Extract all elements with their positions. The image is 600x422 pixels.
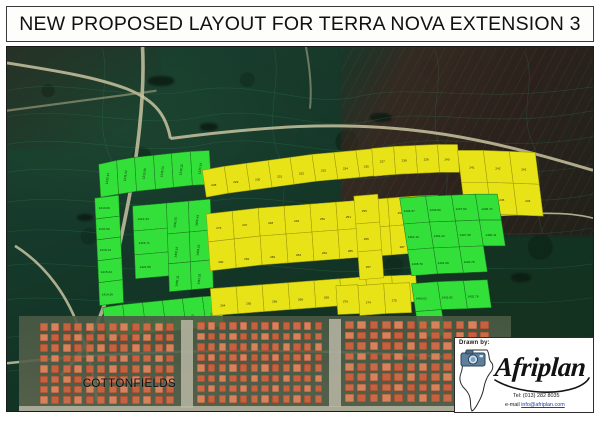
svg-text:1407.39: 1407.39 bbox=[459, 233, 470, 237]
svg-text:273: 273 bbox=[216, 226, 221, 230]
house-roof bbox=[261, 395, 268, 403]
house-roof bbox=[109, 344, 117, 352]
house-roof bbox=[166, 365, 174, 373]
house-roof bbox=[251, 375, 258, 383]
svg-text:268: 268 bbox=[298, 298, 303, 302]
svg-text:230: 230 bbox=[255, 177, 260, 181]
green-block-left-inner-right: 1411.05 1406.41 1402.16 1409.22 1405.31 … bbox=[166, 199, 213, 291]
house-roof bbox=[74, 396, 82, 404]
house-roof bbox=[74, 334, 82, 342]
house-roof bbox=[443, 332, 452, 340]
svg-text:1206.37: 1206.37 bbox=[404, 209, 415, 213]
svg-text:284: 284 bbox=[322, 251, 327, 255]
house-roof bbox=[315, 385, 322, 393]
house-roof bbox=[240, 333, 247, 341]
house-roof bbox=[382, 373, 391, 381]
house-roof bbox=[251, 395, 258, 403]
house-roof bbox=[382, 332, 391, 340]
house-roof bbox=[370, 394, 379, 402]
svg-text:1415.04: 1415.04 bbox=[101, 270, 112, 274]
house-roof bbox=[407, 321, 416, 329]
house-roof bbox=[74, 376, 82, 384]
house-roof bbox=[407, 373, 416, 381]
house-roof bbox=[304, 375, 311, 383]
house-roof bbox=[208, 385, 215, 393]
house-roof bbox=[431, 353, 440, 361]
house-roof bbox=[219, 385, 226, 393]
house-roof bbox=[155, 355, 163, 363]
house-roof bbox=[419, 384, 428, 392]
house-roof bbox=[132, 396, 140, 404]
house-roof bbox=[74, 355, 82, 363]
township-street bbox=[19, 406, 511, 411]
house-roof bbox=[315, 333, 322, 341]
house-roof bbox=[132, 344, 140, 352]
house-roof bbox=[97, 334, 105, 342]
house-roof bbox=[293, 343, 300, 351]
plan-title-bar: NEW PROPOSED LAYOUT FOR TERRA NOVA EXTEN… bbox=[6, 6, 594, 42]
house-roof bbox=[229, 322, 236, 330]
house-roof bbox=[304, 343, 311, 351]
house-roof bbox=[261, 364, 268, 372]
house-roof bbox=[407, 353, 416, 361]
house-roof bbox=[219, 322, 226, 330]
drawn-by-logo-panel: Drawn by: Afriplan Tel: (013) 282 8035 e… bbox=[454, 337, 594, 413]
yellow-block-left-of-right-green: 276 bbox=[336, 285, 360, 315]
house-roof bbox=[74, 323, 82, 331]
house-roof bbox=[166, 344, 174, 352]
house-roof bbox=[304, 333, 311, 341]
svg-text:250: 250 bbox=[320, 217, 325, 221]
house-roof bbox=[407, 394, 416, 402]
house-roof bbox=[251, 364, 258, 372]
svg-text:1137.09: 1137.09 bbox=[99, 227, 110, 231]
township-street bbox=[329, 319, 341, 407]
house-roof bbox=[272, 354, 279, 362]
house-roof bbox=[293, 354, 300, 362]
house-roof bbox=[261, 343, 268, 351]
house-roof bbox=[166, 396, 174, 404]
house-roof bbox=[143, 396, 151, 404]
house-roof bbox=[304, 364, 311, 372]
house-roof bbox=[197, 322, 204, 330]
house-roof bbox=[293, 395, 300, 403]
yellow-block-row-1: 228 229 230 231 232 233 234 235 236 bbox=[202, 147, 399, 197]
house-roof bbox=[155, 365, 163, 373]
house-roof bbox=[283, 364, 290, 372]
house-roof bbox=[155, 323, 163, 331]
svg-text:231: 231 bbox=[277, 174, 282, 178]
svg-text:242: 242 bbox=[495, 166, 500, 170]
svg-text:287: 287 bbox=[400, 245, 405, 249]
house-roof bbox=[394, 332, 403, 340]
house-roof bbox=[197, 343, 204, 351]
house-roof bbox=[51, 396, 59, 404]
svg-text:247: 247 bbox=[242, 223, 247, 227]
house-roof bbox=[468, 321, 477, 329]
house-roof bbox=[394, 342, 403, 350]
house-roof bbox=[357, 332, 366, 340]
house-roof bbox=[407, 363, 416, 371]
house-roof bbox=[357, 394, 366, 402]
house-roof bbox=[370, 384, 379, 392]
house-roof bbox=[443, 373, 452, 381]
svg-text:1213.06: 1213.06 bbox=[99, 206, 110, 210]
house-roof bbox=[431, 394, 440, 402]
house-roof bbox=[40, 396, 48, 404]
house-roof bbox=[120, 344, 128, 352]
svg-text:285: 285 bbox=[348, 249, 353, 253]
house-roof bbox=[345, 394, 354, 402]
house-roof bbox=[419, 373, 428, 381]
house-roof bbox=[86, 396, 94, 404]
house-roof bbox=[197, 395, 204, 403]
house-roof bbox=[261, 354, 268, 362]
house-roof bbox=[283, 395, 290, 403]
svg-text:275: 275 bbox=[392, 299, 397, 303]
house-roof bbox=[419, 363, 428, 371]
house-roof bbox=[51, 376, 59, 384]
house-roof bbox=[97, 396, 105, 404]
house-roof bbox=[382, 342, 391, 350]
house-roof bbox=[229, 354, 236, 362]
house-roof bbox=[132, 355, 140, 363]
house-roof bbox=[86, 323, 94, 331]
house-roof bbox=[109, 355, 117, 363]
house-roof bbox=[143, 344, 151, 352]
house-roof bbox=[431, 373, 440, 381]
house-roof bbox=[293, 385, 300, 393]
house-roof bbox=[261, 333, 268, 341]
house-roof bbox=[86, 355, 94, 363]
house-roof bbox=[315, 322, 322, 330]
house-roof bbox=[345, 373, 354, 381]
house-roof bbox=[431, 363, 440, 371]
svg-text:246: 246 bbox=[525, 199, 530, 203]
house-roof bbox=[51, 365, 59, 373]
svg-text:1421.55: 1421.55 bbox=[140, 265, 151, 269]
house-roof bbox=[74, 365, 82, 373]
green-block-left-top-row: 1310.13 1311.02 1313.56 1316.01 1318.22 … bbox=[99, 150, 212, 197]
house-roof bbox=[315, 343, 322, 351]
house-roof bbox=[197, 364, 204, 372]
house-roof bbox=[394, 363, 403, 371]
svg-text:239: 239 bbox=[424, 157, 429, 161]
svg-text:1202.76: 1202.76 bbox=[463, 260, 474, 264]
house-roof bbox=[63, 334, 71, 342]
logo-telephone: Tel: (013) 282 8035 bbox=[513, 393, 559, 399]
svg-text:249: 249 bbox=[294, 219, 299, 223]
house-roof bbox=[419, 321, 428, 329]
house-roof bbox=[155, 396, 163, 404]
house-roof bbox=[419, 342, 428, 350]
house-roof bbox=[51, 355, 59, 363]
house-roof bbox=[345, 321, 354, 329]
house-roof bbox=[407, 332, 416, 340]
house-roof bbox=[345, 384, 354, 392]
township-house-block bbox=[196, 321, 324, 405]
house-roof bbox=[97, 365, 105, 373]
house-roof bbox=[394, 321, 403, 329]
house-roof bbox=[272, 375, 279, 383]
house-roof bbox=[345, 342, 354, 350]
house-roof bbox=[86, 334, 94, 342]
house-roof bbox=[219, 343, 226, 351]
house-roof bbox=[51, 344, 59, 352]
house-roof bbox=[74, 386, 82, 394]
svg-text:233: 233 bbox=[321, 168, 326, 172]
house-roof bbox=[443, 321, 452, 329]
house-roof bbox=[219, 354, 226, 362]
house-roof bbox=[261, 375, 268, 383]
house-roof bbox=[272, 322, 279, 330]
svg-text:241: 241 bbox=[469, 165, 474, 169]
green-block-left-inner-island: 1412.43 1415.71 1421.55 bbox=[133, 203, 170, 279]
svg-text:1415.71: 1415.71 bbox=[139, 241, 150, 245]
house-roof bbox=[251, 322, 258, 330]
house-roof bbox=[219, 333, 226, 341]
svg-text:1215.13: 1215.13 bbox=[100, 248, 111, 252]
camera-icon bbox=[460, 348, 486, 368]
house-roof bbox=[370, 363, 379, 371]
house-roof bbox=[293, 364, 300, 372]
house-roof bbox=[370, 321, 379, 329]
house-roof bbox=[120, 334, 128, 342]
logo-email-address[interactable]: info@afriplan.com bbox=[521, 402, 565, 408]
svg-text:1207.90: 1207.90 bbox=[455, 207, 466, 211]
house-roof bbox=[382, 353, 391, 361]
house-roof bbox=[251, 354, 258, 362]
svg-text:283: 283 bbox=[296, 253, 301, 257]
house-roof bbox=[431, 321, 440, 329]
house-roof bbox=[197, 354, 204, 362]
house-roof bbox=[261, 385, 268, 393]
house-roof bbox=[357, 373, 366, 381]
house-roof bbox=[143, 323, 151, 331]
layout-plan-page: NEW PROPOSED LAYOUT FOR TERRA NOVA EXTEN… bbox=[0, 0, 600, 422]
house-roof bbox=[283, 385, 290, 393]
house-roof bbox=[166, 355, 174, 363]
house-roof bbox=[132, 365, 140, 373]
township-house-block bbox=[38, 322, 176, 406]
house-roof bbox=[394, 353, 403, 361]
house-roof bbox=[208, 322, 215, 330]
house-roof bbox=[480, 321, 489, 329]
house-roof bbox=[197, 385, 204, 393]
house-roof bbox=[315, 354, 322, 362]
house-roof bbox=[240, 364, 247, 372]
svg-text:280: 280 bbox=[218, 260, 223, 264]
house-roof bbox=[240, 354, 247, 362]
svg-text:1431.82: 1431.82 bbox=[442, 296, 453, 300]
house-roof bbox=[109, 365, 117, 373]
svg-text:1402.10: 1402.10 bbox=[408, 235, 419, 239]
svg-text:264: 264 bbox=[220, 304, 225, 308]
house-roof bbox=[272, 333, 279, 341]
svg-text:1414.39: 1414.39 bbox=[102, 293, 113, 297]
house-roof bbox=[229, 375, 236, 383]
house-roof bbox=[63, 323, 71, 331]
svg-text:282: 282 bbox=[270, 255, 275, 259]
house-roof bbox=[208, 364, 215, 372]
house-roof bbox=[120, 396, 128, 404]
svg-text:256: 256 bbox=[364, 237, 369, 241]
house-roof bbox=[109, 396, 117, 404]
house-roof bbox=[63, 365, 71, 373]
house-roof bbox=[40, 355, 48, 363]
house-roof bbox=[97, 344, 105, 352]
house-roof bbox=[304, 385, 311, 393]
house-roof bbox=[394, 394, 403, 402]
house-roof bbox=[370, 373, 379, 381]
house-roof bbox=[208, 343, 215, 351]
house-roof bbox=[120, 355, 128, 363]
svg-text:281: 281 bbox=[244, 257, 249, 261]
house-roof bbox=[240, 385, 247, 393]
house-roof bbox=[109, 334, 117, 342]
svg-text:1208.70: 1208.70 bbox=[412, 262, 423, 266]
svg-text:237: 237 bbox=[380, 159, 385, 163]
svg-text:265: 265 bbox=[246, 302, 251, 306]
house-roof bbox=[382, 321, 391, 329]
house-roof bbox=[315, 395, 322, 403]
house-roof bbox=[419, 353, 428, 361]
house-roof bbox=[443, 363, 452, 371]
house-roof bbox=[283, 333, 290, 341]
house-roof bbox=[208, 375, 215, 383]
house-roof bbox=[229, 333, 236, 341]
house-roof bbox=[251, 343, 258, 351]
house-roof bbox=[370, 342, 379, 350]
svg-text:1412.43: 1412.43 bbox=[138, 217, 149, 221]
existing-township-cottonfields: COTTONFIELDS bbox=[19, 316, 511, 412]
house-roof bbox=[208, 354, 215, 362]
svg-text:228: 228 bbox=[211, 183, 216, 187]
house-roof bbox=[345, 363, 354, 371]
house-roof bbox=[407, 384, 416, 392]
house-roof bbox=[229, 385, 236, 393]
house-roof bbox=[63, 396, 71, 404]
township-street bbox=[181, 320, 193, 408]
svg-text:276: 276 bbox=[343, 300, 348, 304]
house-roof bbox=[63, 376, 71, 384]
house-roof bbox=[197, 333, 204, 341]
house-roof bbox=[357, 321, 366, 329]
house-roof bbox=[86, 365, 94, 373]
house-roof bbox=[382, 384, 391, 392]
house-roof bbox=[293, 322, 300, 330]
house-roof bbox=[443, 353, 452, 361]
house-roof bbox=[283, 354, 290, 362]
house-roof bbox=[63, 355, 71, 363]
house-roof bbox=[431, 332, 440, 340]
house-roof bbox=[443, 342, 452, 350]
house-roof bbox=[143, 365, 151, 373]
logo-email-prefix: e-mail bbox=[505, 402, 521, 408]
house-roof bbox=[132, 334, 140, 342]
house-roof bbox=[345, 332, 354, 340]
logo-email: e-mail info@afriplan.com bbox=[505, 402, 565, 408]
house-roof bbox=[443, 394, 452, 402]
house-roof bbox=[251, 333, 258, 341]
house-roof bbox=[394, 384, 403, 392]
house-roof bbox=[240, 322, 247, 330]
house-roof bbox=[97, 323, 105, 331]
house-roof bbox=[357, 342, 366, 350]
house-roof bbox=[304, 322, 311, 330]
house-roof bbox=[419, 332, 428, 340]
house-roof bbox=[229, 395, 236, 403]
house-roof bbox=[229, 343, 236, 351]
svg-text:269: 269 bbox=[324, 296, 329, 300]
house-roof bbox=[40, 344, 48, 352]
house-roof bbox=[419, 394, 428, 402]
house-roof bbox=[283, 322, 290, 330]
svg-text:1461.22: 1461.22 bbox=[434, 234, 445, 238]
house-roof bbox=[370, 332, 379, 340]
house-roof bbox=[74, 344, 82, 352]
svg-text:251: 251 bbox=[346, 215, 351, 219]
house-roof bbox=[132, 323, 140, 331]
house-roof bbox=[345, 353, 354, 361]
svg-text:229: 229 bbox=[233, 180, 238, 184]
house-roof bbox=[86, 344, 94, 352]
svg-text:255: 255 bbox=[362, 209, 367, 213]
house-roof bbox=[251, 385, 258, 393]
svg-text:1400.11: 1400.11 bbox=[485, 233, 496, 237]
house-roof bbox=[272, 364, 279, 372]
house-roof bbox=[431, 384, 440, 392]
house-roof bbox=[155, 344, 163, 352]
house-roof bbox=[431, 342, 440, 350]
house-roof bbox=[166, 323, 174, 331]
house-roof bbox=[240, 375, 247, 383]
house-roof bbox=[261, 322, 268, 330]
house-roof bbox=[272, 385, 279, 393]
house-roof bbox=[219, 364, 226, 372]
house-roof bbox=[272, 343, 279, 351]
house-roof bbox=[51, 323, 59, 331]
svg-text:243: 243 bbox=[521, 167, 526, 171]
yellow-block-right-lower: 274 275 bbox=[358, 283, 412, 316]
house-roof bbox=[63, 386, 71, 394]
house-roof bbox=[97, 355, 105, 363]
house-roof bbox=[304, 395, 311, 403]
house-roof bbox=[63, 344, 71, 352]
house-roof bbox=[283, 343, 290, 351]
house-roof bbox=[370, 353, 379, 361]
house-roof bbox=[166, 334, 174, 342]
house-roof bbox=[240, 395, 247, 403]
house-roof bbox=[219, 395, 226, 403]
house-roof bbox=[357, 384, 366, 392]
svg-text:266: 266 bbox=[272, 300, 277, 304]
house-roof bbox=[456, 321, 465, 329]
house-roof bbox=[394, 373, 403, 381]
house-roof bbox=[109, 323, 117, 331]
house-roof bbox=[229, 364, 236, 372]
house-roof bbox=[293, 333, 300, 341]
house-roof bbox=[272, 395, 279, 403]
svg-text:1432.76: 1432.76 bbox=[467, 295, 478, 299]
svg-text:238: 238 bbox=[402, 158, 407, 162]
house-roof bbox=[40, 334, 48, 342]
house-roof bbox=[357, 353, 366, 361]
svg-text:1206.50: 1206.50 bbox=[430, 208, 441, 212]
house-roof bbox=[40, 376, 48, 384]
house-roof bbox=[51, 334, 59, 342]
svg-text:1401.09: 1401.09 bbox=[438, 261, 449, 265]
